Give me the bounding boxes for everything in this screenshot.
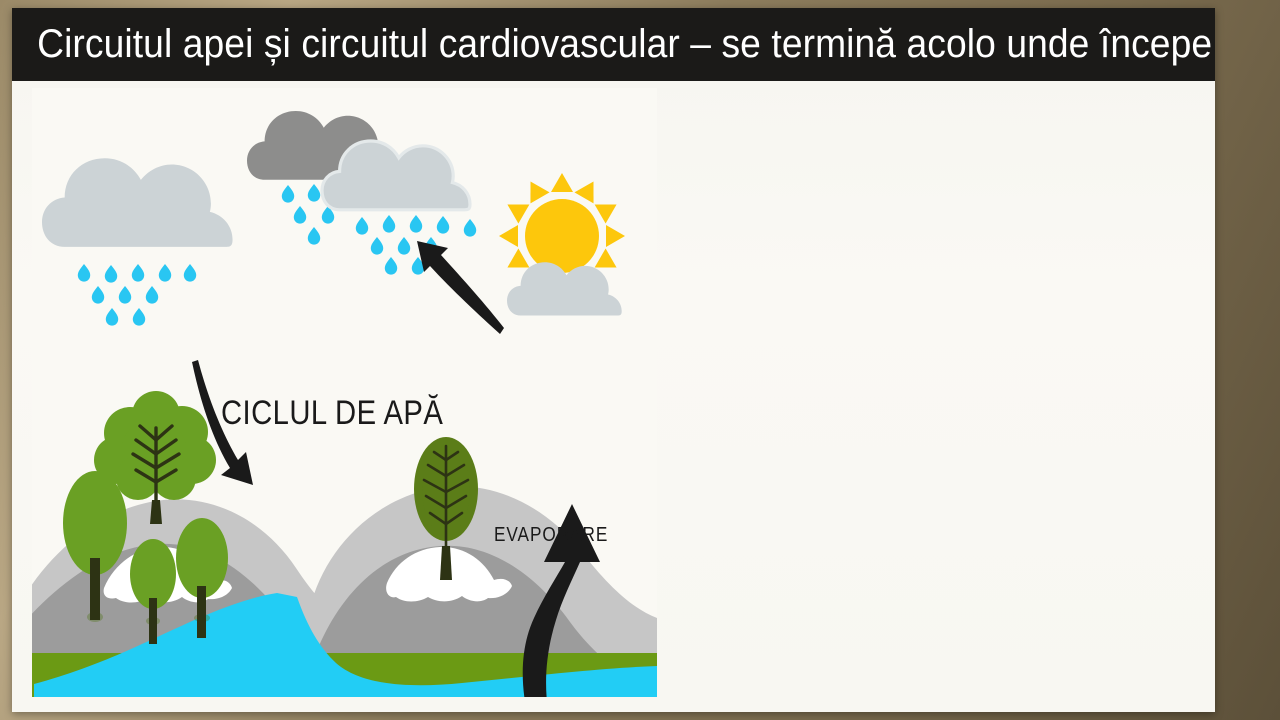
slide-canvas: Circuitul apei și circuitul cardiovascul… — [0, 0, 1280, 720]
page-title: Circuitul apei și circuitul cardiovascul… — [12, 22, 1212, 67]
label-water-cycle: CICLUL DE APĂ — [221, 394, 443, 433]
label-evaporation: EVAPORARE — [494, 524, 608, 547]
water-cycle-illustration: CICLUL DE APĂ EVAPORARE — [32, 88, 657, 697]
water-cycle-svg — [32, 88, 657, 697]
arrow-curved-to-cloud-icon — [417, 241, 504, 334]
raindrops-light-front-cloud — [356, 215, 476, 275]
raindrops-left-cloud — [78, 264, 196, 326]
cloud-left-icon — [42, 158, 233, 247]
slide-title-bar: Circuitul apei și circuitul cardiovascul… — [12, 8, 1215, 81]
